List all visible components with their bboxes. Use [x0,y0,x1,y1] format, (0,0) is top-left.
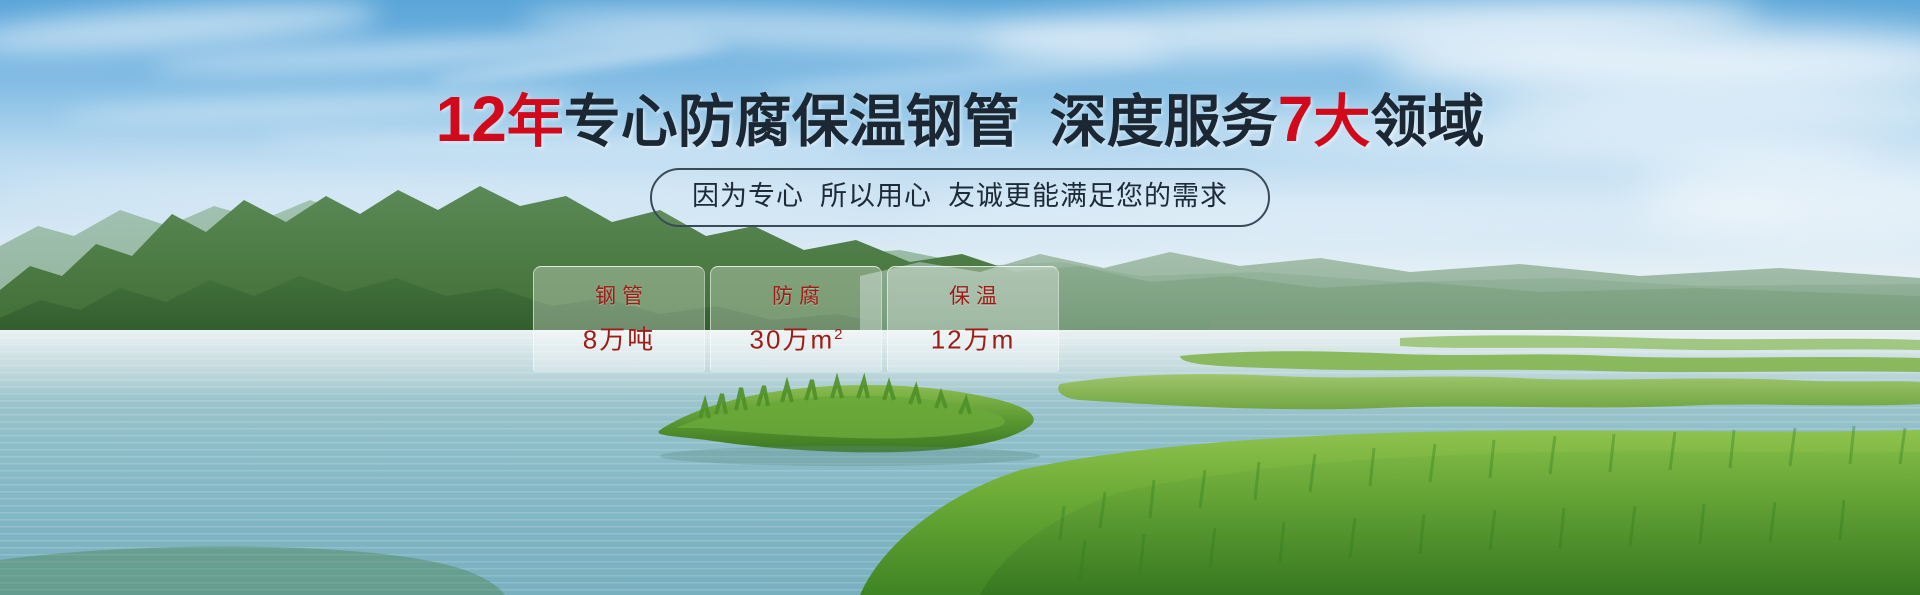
banner-headline: 12年专心防腐保温钢管深度服务7大领域 [0,88,1920,153]
banner-text-overlay: 12年专心防腐保温钢管深度服务7大领域 因为专心所以用心友诚更能满足您的需求 钢… [0,0,1920,595]
stat-card-label: 钢管 [589,284,649,310]
stat-card-value: 8万吨 [583,320,655,355]
headline-highlight-fields-unit: 大 [1313,90,1370,154]
headline-highlight-fields: 7 [1278,83,1314,155]
stat-card-insulation: 保温 12万m [887,266,1059,372]
stat-card-value: 12万m [931,320,1016,355]
subtitle-part-3: 友诚更能满足您的需求 [948,181,1228,211]
banner-subtitle-pill: 因为专心所以用心友诚更能满足您的需求 [650,168,1270,227]
headline-text-primary: 专心防腐保温钢管 [564,90,1020,154]
stat-card-value-text: 30万m [750,325,835,355]
stat-card-value: 30万m2 [750,320,843,355]
stat-card-anticorrosion: 防腐 30万m2 [710,266,882,372]
headline-text-tertiary: 领域 [1370,90,1484,154]
headline-text-secondary: 深度服务 [1050,90,1278,154]
stat-card-label: 保温 [943,284,1003,310]
hero-banner: 12年专心防腐保温钢管深度服务7大领域 因为专心所以用心友诚更能满足您的需求 钢… [0,0,1920,595]
stat-card-label: 防腐 [766,284,826,310]
stat-card-value-text: 8万吨 [583,325,655,355]
stat-card-value-sup: 2 [834,326,842,343]
headline-highlight-years: 12 [436,83,507,155]
stat-card-steel-pipe: 钢管 8万吨 [533,266,705,372]
headline-highlight-years-unit: 年 [507,90,564,154]
subtitle-part-1: 因为专心 [692,181,804,211]
stat-card-value-text: 12万m [931,325,1016,355]
subtitle-part-2: 所以用心 [820,181,932,211]
stat-card-group: 钢管 8万吨 防腐 30万m2 保温 12万m [533,266,1059,372]
